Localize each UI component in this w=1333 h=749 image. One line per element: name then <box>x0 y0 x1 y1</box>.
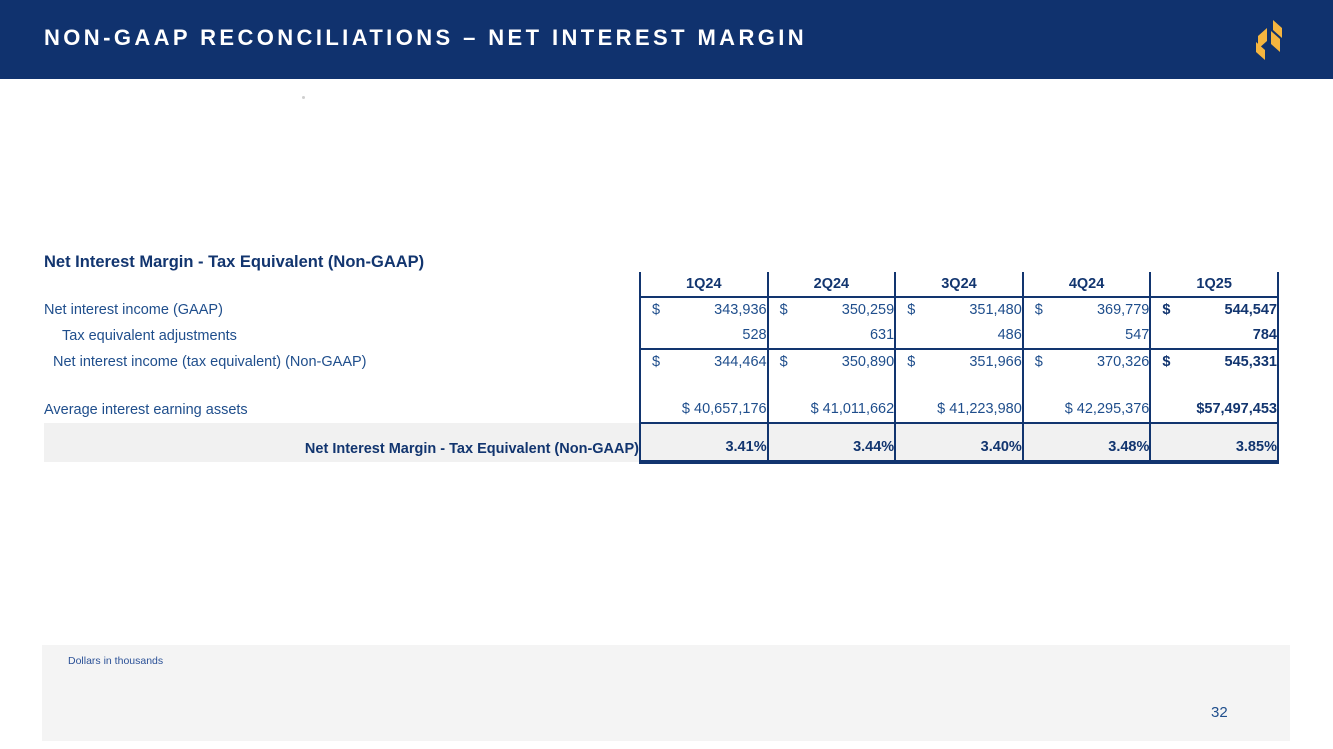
cell-value: 545,331 <box>1225 354 1277 370</box>
currency-symbol: $ <box>652 298 660 323</box>
cell-nim-1q25: 3.85% <box>1150 435 1278 462</box>
spacer-label-cell <box>44 423 640 435</box>
cell-nii-gaap-4q24: $369,779 <box>1023 297 1151 323</box>
row-label-average-interest-earning-assets: Average interest earning assets <box>44 397 640 423</box>
currency-symbol: $ <box>1035 350 1043 375</box>
cell-nim-3q24: 3.40% <box>895 435 1023 462</box>
spacer-cell <box>1023 423 1151 435</box>
cell-value: 547 <box>1125 327 1149 343</box>
cell-value: 344,464 <box>714 354 766 370</box>
cell-value: 351,966 <box>969 354 1021 370</box>
cell-nim-2q24: 3.44% <box>768 435 896 462</box>
cell-nii-gaap-2q24: $350,259 <box>768 297 896 323</box>
spacer-cell <box>895 423 1023 435</box>
cell-avg-assets-2q24: $ 41,011,662 <box>768 397 896 423</box>
cell-value: 544,547 <box>1225 302 1277 318</box>
column-header-3q24: 3Q24 <box>895 272 1023 297</box>
cell-value: $ 42,295,376 <box>1065 401 1150 417</box>
company-logo-icon <box>1249 18 1289 62</box>
column-header-4q24: 4Q24 <box>1023 272 1151 297</box>
spacer-cell <box>1023 375 1151 397</box>
cell-tax-adj-1q24: 528 <box>640 323 768 349</box>
cell-value: 350,890 <box>842 354 894 370</box>
section-title: Net Interest Margin - Tax Equivalent (No… <box>44 253 424 272</box>
cell-tax-adj-4q24: 547 <box>1023 323 1151 349</box>
cell-nim-4q24: 3.48% <box>1023 435 1151 462</box>
cell-tax-adj-2q24: 631 <box>768 323 896 349</box>
cell-avg-assets-1q24: $ 40,657,176 <box>640 397 768 423</box>
cell-tax-adj-1q25: 784 <box>1150 323 1278 349</box>
cell-nii-te-3q24: $351,966 <box>895 349 1023 375</box>
cell-nii-gaap-1q24: $343,936 <box>640 297 768 323</box>
cell-value: $ 40,657,176 <box>682 401 767 417</box>
cell-tax-adj-3q24: 486 <box>895 323 1023 349</box>
cell-value: 3.44% <box>853 439 894 455</box>
column-header-1q24: 1Q24 <box>640 272 768 297</box>
footer-band <box>42 645 1290 741</box>
spacer-cell <box>640 423 768 435</box>
page-number: 32 <box>1211 704 1228 721</box>
row-label-net-interest-income-gaap: Net interest income (GAAP) <box>44 297 640 323</box>
cell-nii-te-1q24: $344,464 <box>640 349 768 375</box>
currency-symbol: $ <box>1162 298 1170 323</box>
cell-value: 486 <box>998 327 1022 343</box>
nim-reconciliation-table: 1Q24 2Q24 3Q24 4Q24 1Q25 Net interest in… <box>44 272 1279 464</box>
footer-note: Dollars in thousands <box>68 655 163 667</box>
page-title: NON-GAAP RECONCILIATIONS – NET INTEREST … <box>44 25 807 51</box>
cell-value: $ 41,223,980 <box>937 401 1022 417</box>
cell-value: 343,936 <box>714 302 766 318</box>
row-label-nii-tax-equivalent: Net interest income (tax equivalent) (No… <box>44 349 640 375</box>
highlight-top-spacer-row <box>44 423 1278 435</box>
cell-value: $ 41,011,662 <box>811 401 895 417</box>
cell-nii-te-1q25: $545,331 <box>1150 349 1278 375</box>
spacer-cell <box>768 423 896 435</box>
cell-avg-assets-1q25: $57,497,453 <box>1150 397 1278 423</box>
cell-value: 370,326 <box>1097 354 1149 370</box>
currency-symbol: $ <box>1162 350 1170 375</box>
spacer-cell <box>1150 423 1278 435</box>
table-row: Net interest income (GAAP) $343,936 $350… <box>44 297 1278 323</box>
cell-nii-te-4q24: $370,326 <box>1023 349 1151 375</box>
table-row: Net interest income (tax equivalent) (No… <box>44 349 1278 375</box>
cell-value: 631 <box>870 327 894 343</box>
cell-avg-assets-3q24: $ 41,223,980 <box>895 397 1023 423</box>
cell-nim-1q24: 3.41% <box>640 435 768 462</box>
table-header-row: 1Q24 2Q24 3Q24 4Q24 1Q25 <box>44 272 1278 297</box>
spacer-cell <box>640 375 768 397</box>
column-header-1q25: 1Q25 <box>1150 272 1278 297</box>
currency-symbol: $ <box>1035 298 1043 323</box>
row-label-net-interest-margin-total: Net Interest Margin - Tax Equivalent (No… <box>44 435 640 462</box>
nim-reconciliation-table-wrap: 1Q24 2Q24 3Q24 4Q24 1Q25 Net interest in… <box>44 272 1278 464</box>
cell-value: 3.48% <box>1108 439 1149 455</box>
cell-value: $57,497,453 <box>1196 401 1277 417</box>
header-spacer-cell <box>44 272 640 297</box>
cell-avg-assets-4q24: $ 42,295,376 <box>1023 397 1151 423</box>
cell-value: 3.41% <box>725 439 766 455</box>
cell-value: 350,259 <box>842 302 894 318</box>
cell-value: 784 <box>1253 327 1277 343</box>
slide-header-band: NON-GAAP RECONCILIATIONS – NET INTEREST … <box>0 0 1333 79</box>
row-label-tax-equivalent-adjustments: Tax equivalent adjustments <box>44 323 640 349</box>
cell-value: 3.40% <box>981 439 1022 455</box>
currency-symbol: $ <box>907 298 915 323</box>
column-header-2q24: 2Q24 <box>768 272 896 297</box>
cell-value: 3.85% <box>1236 439 1277 455</box>
spacer-cell <box>768 375 896 397</box>
currency-symbol: $ <box>780 350 788 375</box>
spacer-label-cell <box>44 375 640 397</box>
spacer-cell <box>1150 375 1278 397</box>
cell-value: 369,779 <box>1097 302 1149 318</box>
cell-value: 528 <box>742 327 766 343</box>
cell-nii-gaap-3q24: $351,480 <box>895 297 1023 323</box>
table-row: Tax equivalent adjustments 528 631 486 5… <box>44 323 1278 349</box>
table-total-row: Net Interest Margin - Tax Equivalent (No… <box>44 435 1278 462</box>
table-spacer-row <box>44 375 1278 397</box>
currency-symbol: $ <box>652 350 660 375</box>
currency-symbol: $ <box>907 350 915 375</box>
cell-nii-te-2q24: $350,890 <box>768 349 896 375</box>
image-speck-artifact <box>302 96 305 99</box>
currency-symbol: $ <box>780 298 788 323</box>
cell-value: 351,480 <box>969 302 1021 318</box>
cell-nii-gaap-1q25: $544,547 <box>1150 297 1278 323</box>
spacer-cell <box>895 375 1023 397</box>
table-row: Average interest earning assets $ 40,657… <box>44 397 1278 423</box>
